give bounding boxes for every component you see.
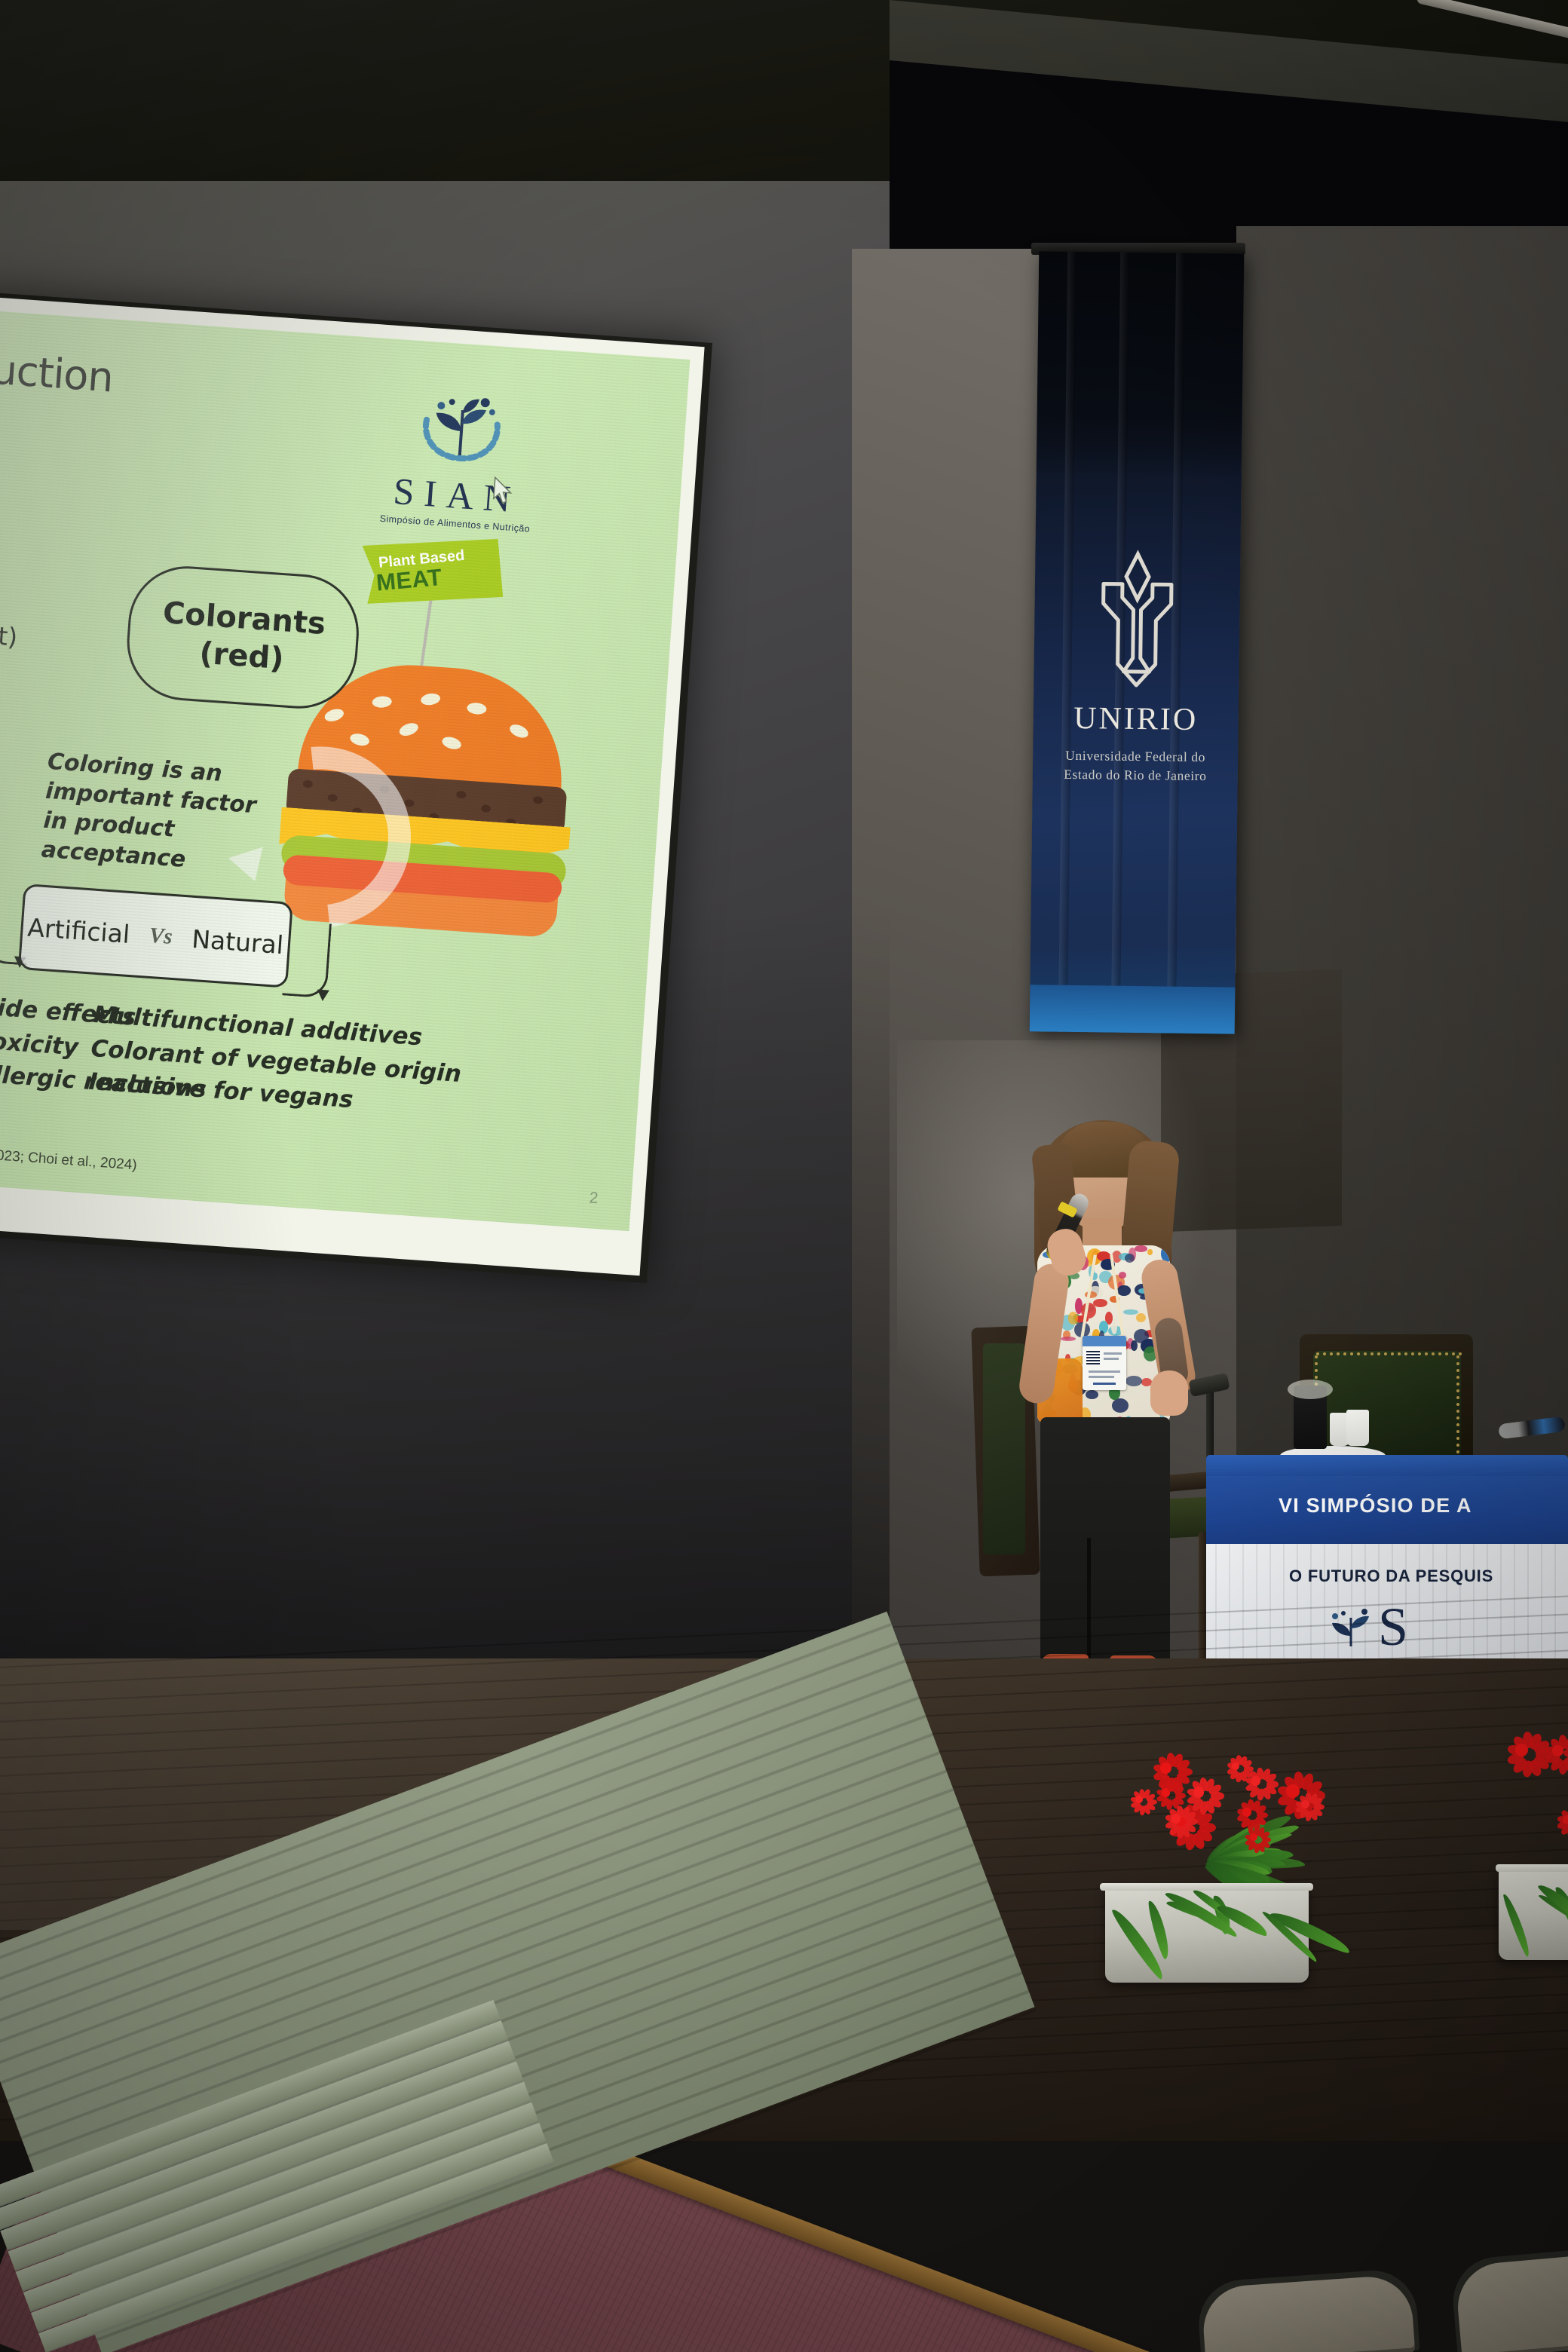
left-cut-text: based meat) 38%) — [0, 610, 19, 686]
chair-stud — [1456, 1423, 1459, 1426]
conference-badge — [1083, 1336, 1126, 1390]
flower-center — [1160, 1762, 1171, 1774]
unirio-wordmark: UNIRIO — [1033, 700, 1239, 738]
flag-label-line2: MEAT — [375, 564, 443, 596]
chair-stud — [1456, 1416, 1459, 1419]
patty-speck — [533, 796, 544, 804]
colorants-line2: (red) — [198, 636, 285, 677]
badge-qr-code-icon — [1086, 1351, 1100, 1364]
chair-stud — [1456, 1430, 1459, 1433]
chair-stud — [1425, 1352, 1428, 1355]
floral-motif — [1119, 1272, 1126, 1279]
floral-motif — [1068, 1312, 1079, 1325]
chair-stud — [1418, 1352, 1421, 1355]
chair-stud — [1357, 1352, 1360, 1355]
chair-stud — [1438, 1352, 1441, 1355]
bun-seed — [323, 707, 345, 724]
right-arrow-head — [317, 990, 329, 1002]
table-banner-title: VI SIMPÓSIO DE A — [1279, 1494, 1472, 1517]
chair-stud — [1377, 1352, 1380, 1355]
natural-benefits-list: Multifunctional additives Colorant of ve… — [87, 998, 464, 1125]
floral-motif — [1061, 1337, 1075, 1341]
chair-stud — [1432, 1352, 1435, 1355]
unirio-subtitle: Universidade Federal do Estado do Rio de… — [1033, 746, 1239, 786]
floral-motif — [1093, 1299, 1107, 1307]
screen-surface: troduction based meat) 38%) — [0, 296, 705, 1276]
chair-stud — [1343, 1352, 1346, 1355]
chair-stud — [1364, 1352, 1367, 1355]
floral-motif — [1112, 1398, 1129, 1413]
chair-stud — [1330, 1352, 1333, 1355]
bun-seed — [441, 735, 463, 752]
chair-stud — [1384, 1352, 1387, 1355]
chair-stud — [1337, 1352, 1340, 1355]
natural-label: Natural — [191, 923, 284, 959]
chair-stud — [1456, 1355, 1459, 1358]
banner-bottom-accent — [1030, 985, 1236, 1034]
planter-red-flowers-right — [1462, 1734, 1568, 1960]
bun-seed — [349, 732, 371, 748]
flower-center — [1251, 1776, 1260, 1786]
versus-label: Vs — [149, 923, 173, 949]
artificial-vs-natural-box: Artificial Vs Natural — [18, 884, 293, 988]
planter-red-flowers-center — [1055, 1749, 1364, 1983]
flower-center — [1193, 1787, 1204, 1797]
chair-stud — [1456, 1362, 1459, 1365]
sian-plant-icon — [403, 384, 521, 474]
chair-stud — [1456, 1376, 1459, 1379]
speaker-right-hand — [1150, 1370, 1188, 1416]
chair-stud — [1456, 1437, 1459, 1440]
flower-center — [1242, 1808, 1251, 1817]
colorants-box: Colorants (red) — [123, 562, 363, 712]
bun-seed — [467, 702, 487, 715]
bun-seed — [508, 722, 531, 740]
chair-stud — [1452, 1352, 1455, 1355]
chair-stud — [1456, 1389, 1459, 1392]
projection-screen: troduction based meat) 38%) — [0, 291, 712, 1283]
chair-stud — [1323, 1352, 1326, 1355]
bun-seed — [397, 721, 420, 738]
chair-stud — [1456, 1403, 1459, 1406]
flower-center — [1563, 1815, 1568, 1824]
slide-citation: Fernández-López et al., 2023; Choi et al… — [0, 1136, 137, 1174]
table-sian-letter: S — [1378, 1600, 1408, 1654]
chair-stud — [1315, 1355, 1318, 1358]
speaker-trousers — [1040, 1417, 1170, 1666]
floral-motif — [1123, 1309, 1138, 1315]
patty-speck — [481, 804, 492, 813]
pot-lip — [1100, 1883, 1313, 1891]
trouser-seam — [1087, 1538, 1091, 1666]
unirio-banner: UNIRIO Universidade Federal do Estado do… — [1030, 251, 1245, 1034]
slide-title: troduction — [0, 340, 115, 401]
flower-center — [1135, 1796, 1143, 1803]
unirio-crest-icon — [1080, 544, 1194, 700]
cup-two — [1346, 1410, 1369, 1446]
chair-stud — [1456, 1444, 1459, 1447]
left-cut-line1: based meat) — [0, 610, 19, 654]
screen-frame: troduction based meat) 38%) — [0, 291, 712, 1283]
flower-center — [1515, 1744, 1529, 1757]
slide-number: 2 — [589, 1189, 599, 1208]
floral-motif — [1086, 1390, 1098, 1399]
bun-seed — [420, 692, 441, 706]
colorants-line1: Colorants — [162, 596, 327, 642]
chair-stud — [1315, 1362, 1318, 1365]
flower-center — [1552, 1745, 1564, 1757]
unirio-subtitle-line2: Estado do Rio de Janeiro — [1033, 764, 1238, 786]
chair-stud — [1456, 1383, 1459, 1386]
pot-lip — [1496, 1864, 1568, 1872]
conference-photo-scene: troduction based meat) 38%) — [0, 0, 1568, 2352]
floral-motif — [1135, 1245, 1148, 1252]
chair-stud — [1315, 1376, 1318, 1379]
chair-stud — [1350, 1352, 1353, 1355]
badge-header — [1083, 1336, 1126, 1346]
bun-seed — [372, 696, 392, 709]
chair-stud — [1445, 1352, 1448, 1355]
artificial-label: Artificial — [26, 912, 130, 948]
floral-motif — [1125, 1376, 1142, 1386]
sian-logo: SIAN Simpósio de Alimentos e Nutrição — [368, 381, 551, 541]
flower-center — [1286, 1784, 1300, 1798]
chair-stud — [1398, 1352, 1401, 1355]
chair-stud — [1459, 1352, 1462, 1355]
chair-stud — [1315, 1369, 1318, 1372]
chair-stud — [1404, 1352, 1407, 1355]
chair-stud — [1391, 1352, 1394, 1355]
flower-center — [1232, 1762, 1240, 1771]
presentation-slide: troduction based meat) 38%) — [0, 310, 690, 1232]
chair-stud — [1456, 1396, 1459, 1399]
flower-center — [1301, 1800, 1309, 1808]
chair-stud — [1456, 1369, 1459, 1372]
chair-stud — [1411, 1352, 1414, 1355]
chair-stud — [1370, 1352, 1374, 1355]
chair-stud — [1456, 1410, 1459, 1413]
patty-speck — [456, 791, 467, 799]
pitcher-doily-cover — [1288, 1380, 1333, 1399]
unirio-subtitle-line1: Universidade Federal do — [1033, 746, 1238, 767]
coloring-note: Coloring is an important factor in produ… — [41, 747, 274, 880]
chair-stud — [1456, 1450, 1459, 1453]
flag-pole — [418, 591, 433, 678]
